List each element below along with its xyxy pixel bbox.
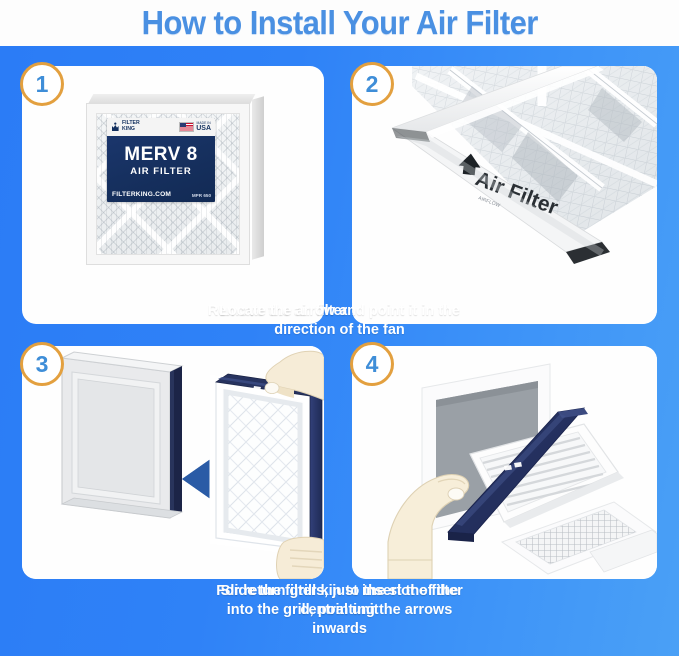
filter-product-label: FILTER KING MADE IN USA	[107, 118, 215, 202]
mpr-text: MPR 650	[192, 193, 211, 198]
step-3-image-card	[22, 346, 324, 579]
label-header-strip: FILTER KING MADE IN USA	[107, 118, 215, 136]
filter-product-photo: FILTER KING MADE IN USA	[22, 66, 324, 324]
step-number-badge-3: 3	[20, 342, 64, 386]
steps-grid: FILTER KING MADE IN USA	[0, 46, 679, 656]
central-unit	[62, 352, 182, 518]
page-title: How to Install Your Air Filter	[141, 4, 537, 42]
filter-edge-closeup-photo: Air Filter AIRFLOW	[352, 66, 657, 324]
step-caption-4: For return grills, just insert the filte…	[0, 582, 679, 639]
infographic-poster: How to Install Your Air Filter	[0, 0, 679, 656]
step-card-1: FILTER KING MADE IN USA	[22, 66, 324, 324]
blue-frame-filter	[216, 374, 322, 550]
made-in-usa-block: MADE IN USA	[179, 121, 211, 133]
made-in-usa-text: MADE IN USA	[196, 121, 211, 133]
website-text: FILTERKING.COM	[112, 191, 171, 198]
us-flag-icon	[179, 122, 194, 132]
return-grill-diagram	[352, 346, 657, 579]
step-card-2: Air Filter AIRFLOW 2	[352, 66, 657, 324]
step-number-badge-2: 2	[350, 62, 394, 106]
step-card-3: 3	[22, 346, 324, 579]
step-card-4: 4	[352, 346, 657, 579]
filter-slot-diagram	[22, 346, 324, 579]
filter-side-edge	[252, 96, 264, 259]
air-filter-product: FILTER KING MADE IN USA	[86, 94, 254, 266]
filter-corner-illustration: Air Filter AIRFLOW	[352, 66, 657, 324]
filter-front-face: FILTER KING MADE IN USA	[86, 103, 250, 265]
product-type: AIR FILTER	[107, 166, 215, 177]
title-band: How to Install Your Air Filter	[0, 0, 679, 46]
step-1-image-card: FILTER KING MADE IN USA	[22, 66, 324, 324]
brand-text: FILTER KING	[122, 121, 140, 132]
step-number-badge-1: 1	[20, 62, 64, 106]
merv-rating: MERV 8	[107, 144, 215, 166]
step-4-image-card	[352, 346, 657, 579]
label-footer: FILTERKING.COM MPR 650	[112, 191, 211, 198]
slide-filter-illustration	[22, 346, 324, 579]
step-number-badge-4: 4	[350, 342, 394, 386]
filter-king-logo: FILTER KING	[111, 121, 140, 132]
hand-bottom	[277, 537, 324, 579]
return-grill-illustration	[352, 346, 657, 579]
crown-king-icon	[111, 122, 120, 133]
step-caption-2: Locate the arrow and point it in the dir…	[0, 302, 679, 340]
step-2-image-card: Air Filter AIRFLOW	[352, 66, 657, 324]
